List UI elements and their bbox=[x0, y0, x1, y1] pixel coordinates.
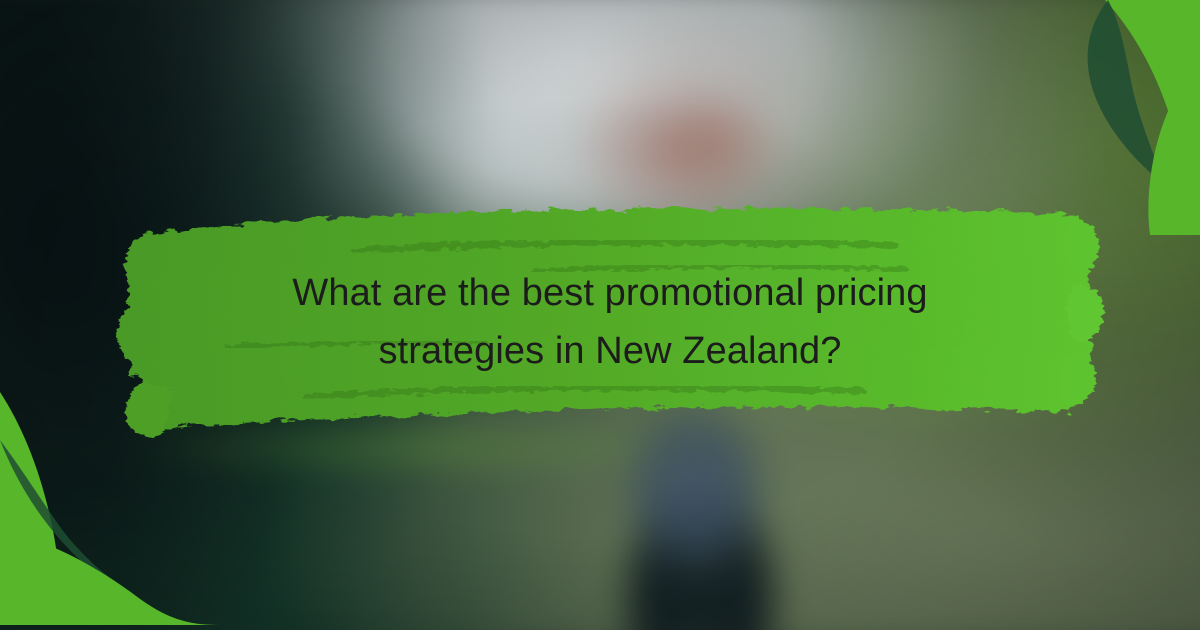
headline-line-2: strategies in New Zealand? bbox=[150, 323, 1070, 381]
leaf-blade-inner bbox=[0, 530, 220, 625]
headline-line-1: What are the best promotional pricing bbox=[150, 265, 1070, 323]
share-card: What are the best promotional pricing st… bbox=[0, 0, 1200, 630]
headline: What are the best promotional pricing st… bbox=[150, 265, 1070, 381]
